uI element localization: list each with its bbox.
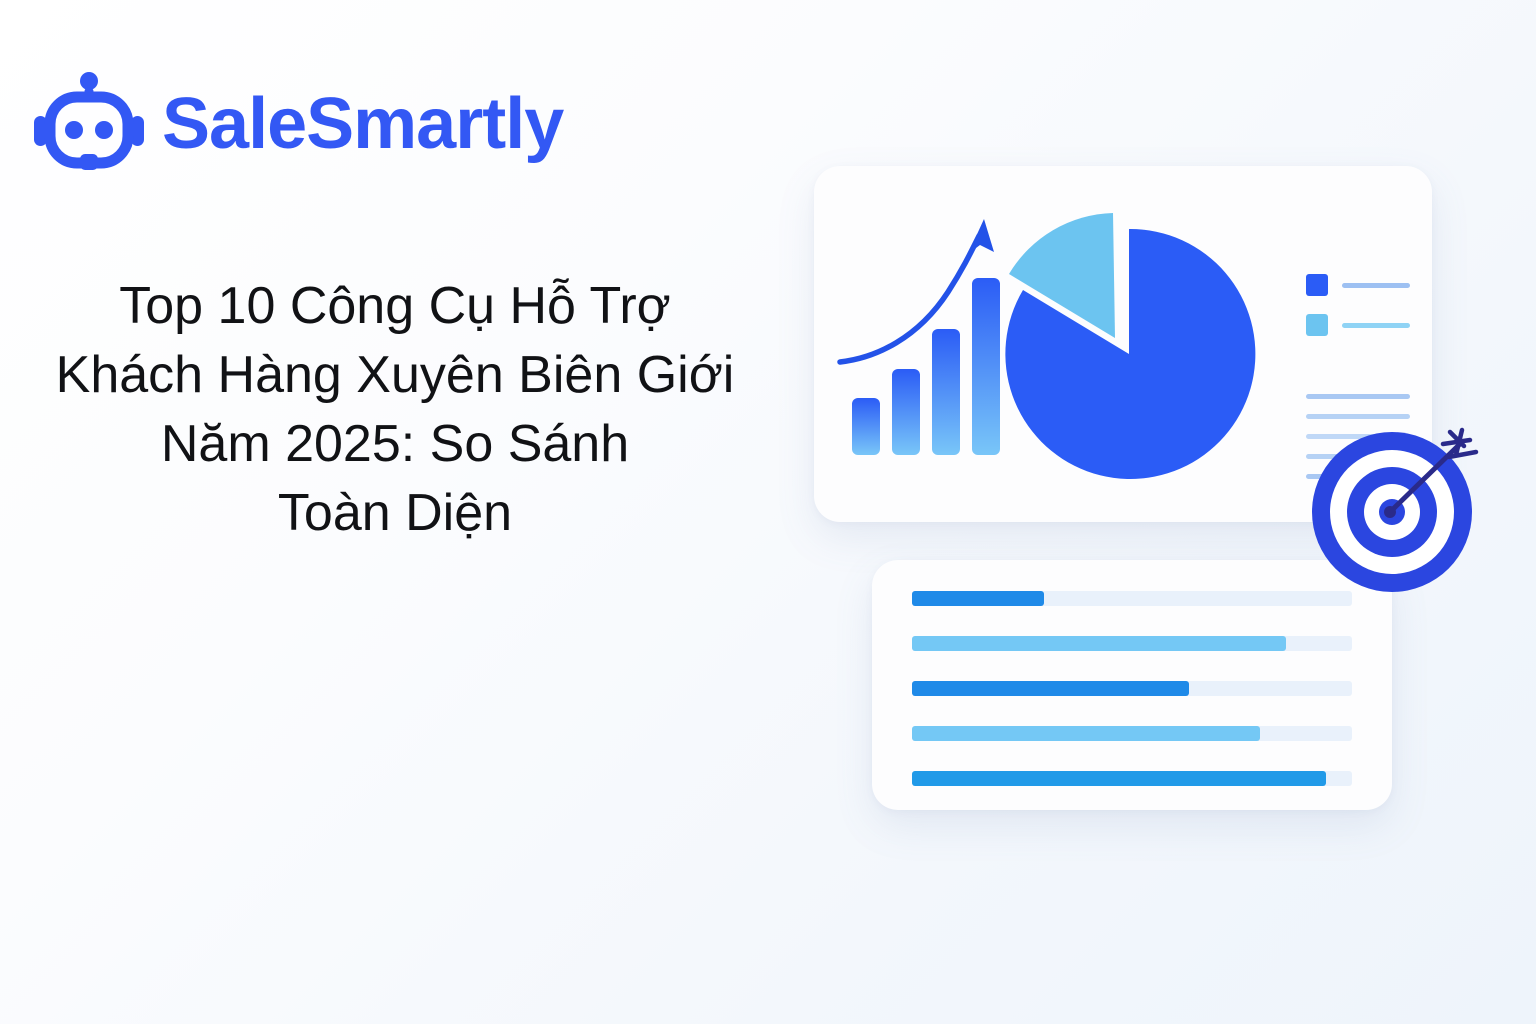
bar-chart-group (852, 278, 1000, 455)
legend-swatch-2 (1306, 314, 1328, 336)
left-content-column: SaleSmartly Top 10 Công Cụ Hỗ Trợ Khách … (0, 0, 800, 1024)
robot-icon (30, 72, 148, 176)
progress-bar-fill (912, 591, 1044, 606)
legend-label-2 (1342, 323, 1410, 328)
page-title-line-3: Năm 2025: So Sánh (0, 410, 790, 479)
trending-up-arrow-icon (840, 219, 994, 362)
progress-bar-row (912, 771, 1352, 786)
progress-bar-row (912, 726, 1352, 741)
legend-swatch-1 (1306, 274, 1328, 296)
page-title-line-1: Top 10 Công Cụ Hỗ Trợ (0, 272, 790, 341)
brand-name: SaleSmartly (162, 88, 563, 160)
progress-bar-fill (912, 636, 1286, 651)
progress-bar-fill (912, 726, 1260, 741)
dashboard-illustration (790, 120, 1490, 880)
page-title: Top 10 Công Cụ Hỗ Trợ Khách Hàng Xuyên B… (0, 272, 790, 549)
bullseye-target-icon (1310, 420, 1485, 595)
progress-bars-list (912, 591, 1352, 781)
progress-bar-fill (912, 681, 1189, 696)
pie-chart-group (1005, 213, 1255, 479)
pie-legend (1306, 274, 1410, 336)
progress-bar-fill (912, 771, 1326, 786)
brand-lockup: SaleSmartly (30, 72, 563, 176)
page-title-line-4: Toàn Diện (0, 479, 790, 548)
page-title-line-2: Khách Hàng Xuyên Biên Giới (0, 341, 790, 410)
progress-bar-row (912, 681, 1352, 696)
progress-bar-row (912, 636, 1352, 651)
progress-bar-row (912, 591, 1352, 606)
legend-label-1 (1342, 283, 1410, 288)
progress-bars-card (872, 560, 1392, 810)
